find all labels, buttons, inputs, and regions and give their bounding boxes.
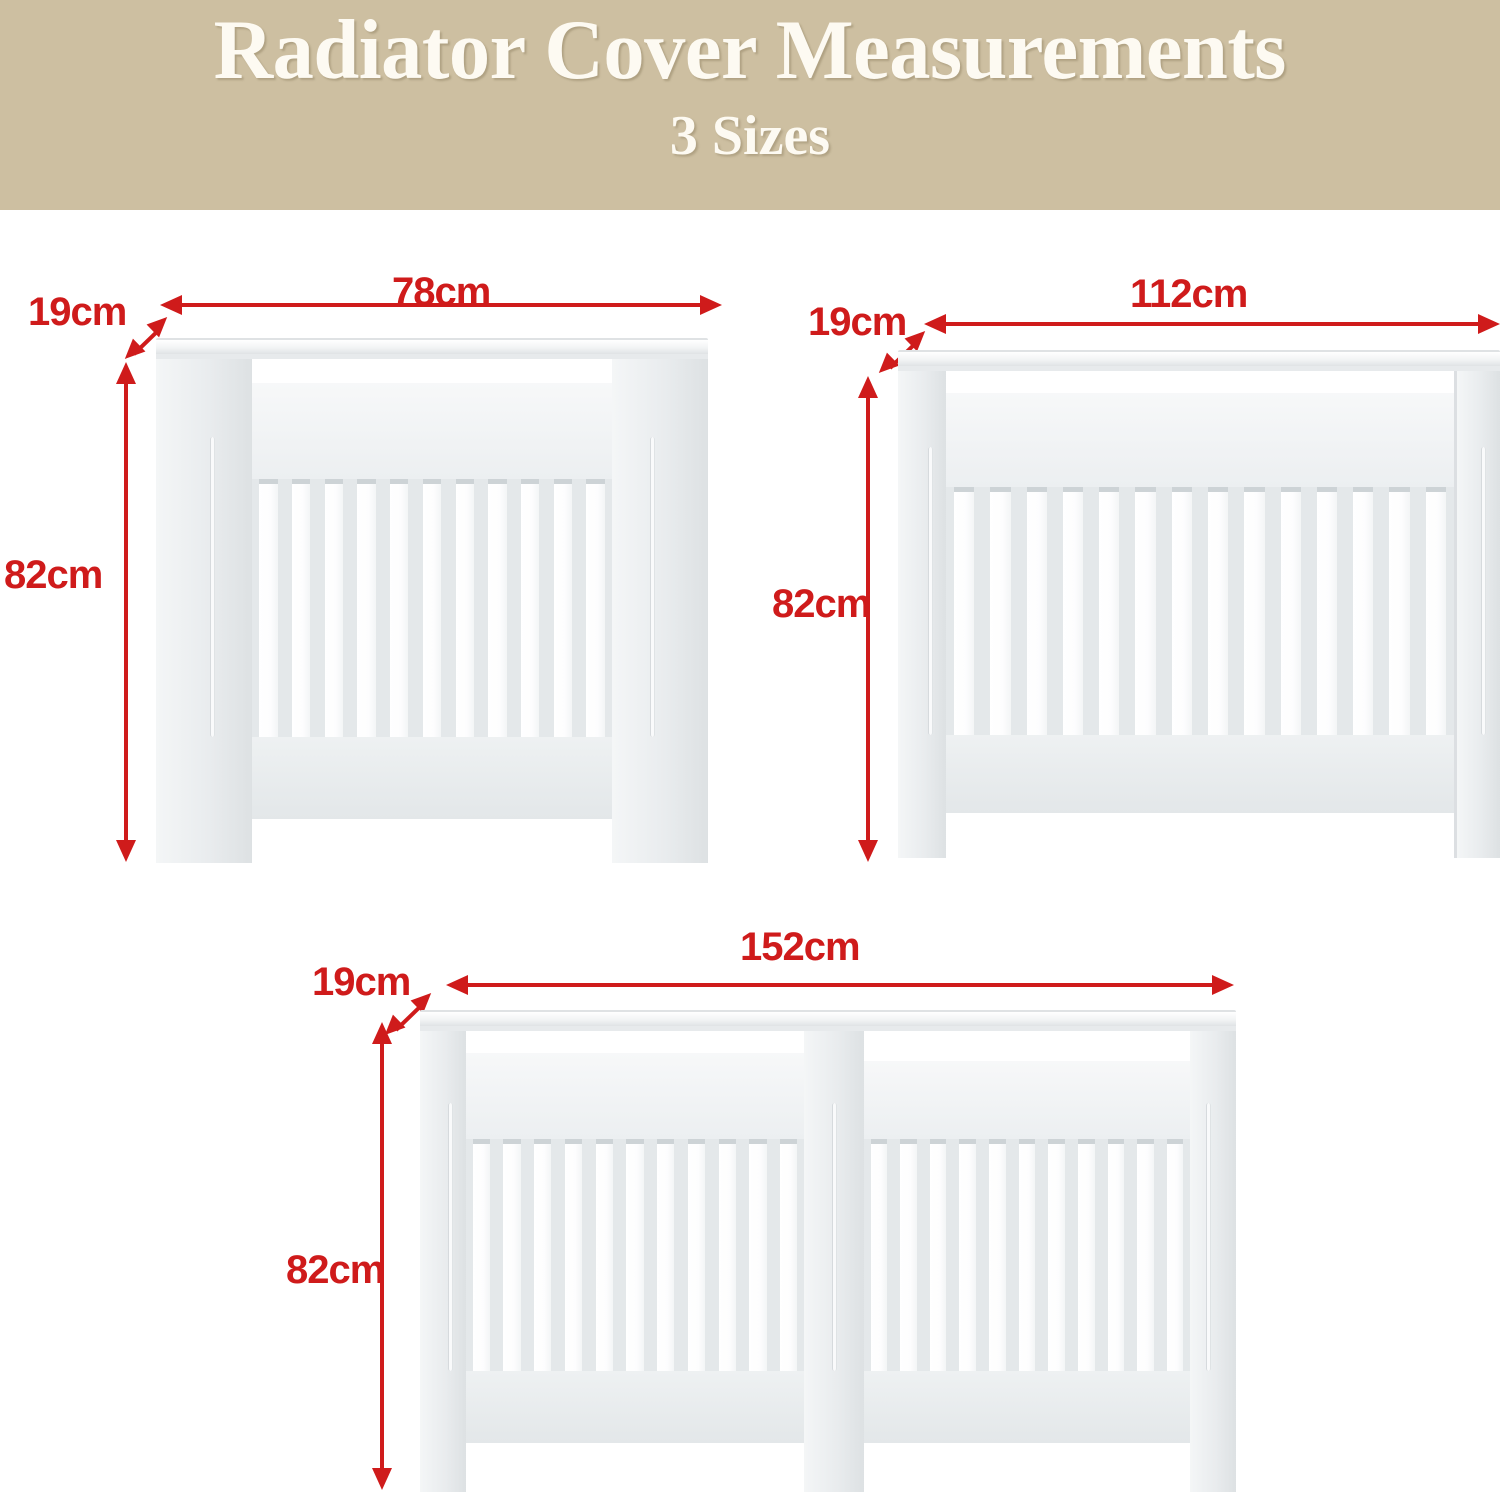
- cabinet-slat-cap: [1353, 487, 1373, 492]
- cabinet-slat: [1353, 487, 1373, 735]
- medium-depth-label: 19cm: [808, 300, 906, 345]
- cabinet-slat: [521, 479, 539, 737]
- cabinet-slat-panel: [252, 479, 612, 737]
- small-height-line: [124, 380, 128, 842]
- large-width-arrow-left: [446, 975, 468, 995]
- small-height-arrow-down: [116, 840, 136, 862]
- cabinet-slat-cap: [325, 479, 343, 484]
- cabinet-top-recess: [946, 371, 1454, 393]
- cabinet-slat-cap: [521, 479, 539, 484]
- cabinet-slat: [959, 1139, 976, 1371]
- cabinet-slat-cap: [292, 479, 310, 484]
- cabinet-slat-cap: [1063, 487, 1083, 492]
- cabinet-slat-cap: [390, 479, 408, 484]
- cabinet-slat: [1108, 1139, 1125, 1371]
- cabinet-slat: [534, 1139, 551, 1371]
- small-cabinet: [156, 338, 708, 863]
- cabinet-slat-cap: [1099, 487, 1119, 492]
- page-subtitle: 3 Sizes: [670, 108, 830, 164]
- cabinet-slat-cap: [423, 479, 441, 484]
- cabinet-leg-left: [898, 371, 946, 858]
- cabinet-slat: [1135, 487, 1155, 735]
- cabinet-slat-cap: [954, 487, 974, 492]
- cabinet-slat-cap: [989, 1139, 1006, 1144]
- cabinet-slat: [565, 1139, 582, 1371]
- cabinet-slat: [989, 1139, 1006, 1371]
- leg-groove-right: [650, 437, 655, 737]
- cabinet-slat: [1063, 487, 1083, 735]
- cabinet-slat: [1099, 487, 1119, 735]
- cabinet-leg-center: [804, 1031, 864, 1492]
- small-height-arrow-up: [116, 362, 136, 384]
- cabinet-slat-cap: [1281, 487, 1301, 492]
- cabinet-slat: [1208, 487, 1228, 735]
- cabinet-slat-cap: [565, 1139, 582, 1144]
- cabinet-slat-cap: [900, 1139, 917, 1144]
- cabinet-slat: [503, 1139, 520, 1371]
- large-width-line: [462, 983, 1218, 987]
- medium-width-line: [940, 322, 1488, 326]
- cabinet-slat-cap: [473, 1139, 490, 1144]
- header-banner: Radiator Cover Measurements 3 Sizes: [0, 0, 1500, 210]
- medium-height-arrow-down: [858, 840, 878, 862]
- cabinet-leg-right: [612, 359, 708, 863]
- small-width-arrow-left: [160, 295, 182, 315]
- cabinet-body: [156, 359, 708, 863]
- cabinet-slat: [473, 1139, 490, 1371]
- cabinet-slat-cap: [554, 479, 572, 484]
- medium-height-arrow-up: [858, 376, 878, 398]
- cabinet-slat: [325, 479, 343, 737]
- cabinet-slat-cap: [1172, 487, 1192, 492]
- cabinet-leg-right: [1190, 1031, 1236, 1492]
- cabinet-slat: [1019, 1139, 1036, 1371]
- cabinet-upper-rail: [252, 383, 612, 479]
- page-title: Radiator Cover Measurements: [214, 6, 1286, 94]
- cabinet-slat-cap: [688, 1139, 705, 1144]
- cabinet-slat-cap: [780, 1139, 797, 1144]
- cabinet-slat: [1078, 1139, 1095, 1371]
- large-height-arrow-down: [372, 1468, 392, 1490]
- small-width-label: 78cm: [392, 270, 490, 315]
- cabinet-slat-cap: [1108, 1139, 1125, 1144]
- cabinet-leg-right-partial: [1457, 371, 1500, 858]
- cabinet-top-recess-right: [864, 1031, 1190, 1061]
- small-height-label: 82cm: [4, 553, 102, 598]
- cabinet-slat: [292, 479, 310, 737]
- small-width-line: [176, 303, 706, 307]
- cabinet-slat-cap: [534, 1139, 551, 1144]
- large-width-label: 152cm: [740, 925, 860, 970]
- cabinet-lower-rail-left: [466, 1371, 804, 1443]
- cabinet-slat: [990, 487, 1010, 735]
- cabinet-slat-cap: [259, 479, 277, 484]
- cabinet-slat-cap: [871, 1139, 888, 1144]
- cabinet-top-recess: [252, 359, 612, 383]
- cabinet-slat-cap: [586, 479, 604, 484]
- cabinet-slat-cap: [488, 479, 506, 484]
- cabinet-slat: [780, 1139, 797, 1371]
- cabinet-body: [898, 371, 1500, 858]
- cabinet-slat: [1027, 487, 1047, 735]
- cabinet-top-recess-left: [466, 1031, 804, 1053]
- cabinet-slat-cap: [1208, 487, 1228, 492]
- small-depth-label: 19cm: [28, 290, 126, 335]
- leg-groove-left: [928, 447, 933, 735]
- leg-groove-left: [210, 437, 215, 737]
- leg-groove-right: [1481, 447, 1486, 735]
- cabinet-slat: [488, 479, 506, 737]
- cabinet-slat: [1317, 487, 1337, 735]
- cabinet-slat-cap: [626, 1139, 643, 1144]
- cabinet-slat-cap: [990, 487, 1010, 492]
- cabinet-slat: [1167, 1139, 1184, 1371]
- medium-height-label: 82cm: [772, 582, 870, 627]
- medium-height-line: [866, 394, 870, 842]
- cabinet-lower-rail: [946, 735, 1454, 813]
- cabinet-slat: [1172, 487, 1192, 735]
- cabinet-upper-rail-left: [466, 1053, 804, 1139]
- cabinet-upper-rail-right: [864, 1061, 1190, 1139]
- cabinet-slat-panel: [946, 487, 1454, 735]
- cabinet-slat: [586, 479, 604, 737]
- cabinet-slat: [596, 1139, 613, 1371]
- cabinet-slat: [423, 479, 441, 737]
- large-height-arrow-up: [372, 1022, 392, 1044]
- cabinet-slat-cap: [1027, 487, 1047, 492]
- cabinet-slat: [1426, 487, 1446, 735]
- cabinet-slat-cap: [1317, 487, 1337, 492]
- cabinet-slat-cap: [719, 1139, 736, 1144]
- cabinet-slat: [259, 479, 277, 737]
- cabinet-slat-panel-right: [864, 1139, 1190, 1371]
- cabinet-slat-cap: [1135, 487, 1155, 492]
- cabinet-body: [420, 1031, 1236, 1492]
- leg-groove-left: [448, 1103, 453, 1371]
- cabinet-slat: [749, 1139, 766, 1371]
- cabinet-slat-cap: [357, 479, 375, 484]
- infographic-page: Radiator Cover Measurements 3 Sizes 78cm…: [0, 0, 1500, 1500]
- large-height-label: 82cm: [286, 1248, 384, 1293]
- cabinet-lower-rail: [252, 737, 612, 819]
- cabinet-slat-cap: [503, 1139, 520, 1144]
- cabinet-slat: [688, 1139, 705, 1371]
- large-height-line: [380, 1040, 384, 1470]
- cabinet-slat-cap: [1244, 487, 1264, 492]
- cabinet-slat: [1281, 487, 1301, 735]
- cabinet-slat-cap: [596, 1139, 613, 1144]
- medium-width-arrow-left: [924, 314, 946, 334]
- cabinet-slat: [1389, 487, 1409, 735]
- cabinet-slat-cap: [749, 1139, 766, 1144]
- medium-width-arrow-right: [1478, 314, 1500, 334]
- cabinet-slat: [554, 479, 572, 737]
- cabinet-slat-cap: [1167, 1139, 1184, 1144]
- cabinet-slat-cap: [1389, 487, 1409, 492]
- cabinet-top-shelf: [898, 350, 1500, 366]
- cabinet-upper-rail: [946, 393, 1454, 487]
- cabinet-slat-cap: [959, 1139, 976, 1144]
- cabinet-slat-cap: [1019, 1139, 1036, 1144]
- cabinet-slat-cap: [456, 479, 474, 484]
- cabinet-slat: [626, 1139, 643, 1371]
- cabinet-slat: [954, 487, 974, 735]
- large-depth-label: 19cm: [312, 960, 410, 1005]
- cabinet-slat: [719, 1139, 736, 1371]
- medium-cabinet: [898, 350, 1500, 858]
- leg-groove-center: [832, 1103, 837, 1371]
- medium-width-label: 112cm: [1130, 272, 1247, 317]
- leg-groove-right: [1206, 1103, 1211, 1371]
- cabinet-slat: [1244, 487, 1264, 735]
- cabinet-slat-panel-left: [466, 1139, 804, 1371]
- large-cabinet: [420, 1010, 1236, 1492]
- cabinet-slat-cap: [657, 1139, 674, 1144]
- cabinet-slat-cap: [1426, 487, 1446, 492]
- cabinet-slat-cap: [1137, 1139, 1154, 1144]
- cabinet-slat: [390, 479, 408, 737]
- cabinet-slat: [900, 1139, 917, 1371]
- cabinet-slat: [657, 1139, 674, 1371]
- cabinet-slat: [1137, 1139, 1154, 1371]
- cabinet-slat: [456, 479, 474, 737]
- cabinet-top-shelf: [420, 1010, 1236, 1026]
- cabinet-slat-cap: [930, 1139, 947, 1144]
- cabinet-top-shelf: [156, 338, 708, 354]
- cabinet-lower-rail-right: [864, 1371, 1190, 1443]
- large-width-arrow-right: [1212, 975, 1234, 995]
- cabinet-slat-cap: [1078, 1139, 1095, 1144]
- cabinet-leg-left: [420, 1031, 466, 1492]
- cabinet-slat: [1048, 1139, 1065, 1371]
- small-width-arrow-right: [700, 295, 722, 315]
- cabinet-leg-left: [156, 359, 252, 863]
- cabinet-slat: [871, 1139, 888, 1371]
- cabinet-slat: [357, 479, 375, 737]
- cabinet-slat-cap: [1048, 1139, 1065, 1144]
- cabinet-slat: [930, 1139, 947, 1371]
